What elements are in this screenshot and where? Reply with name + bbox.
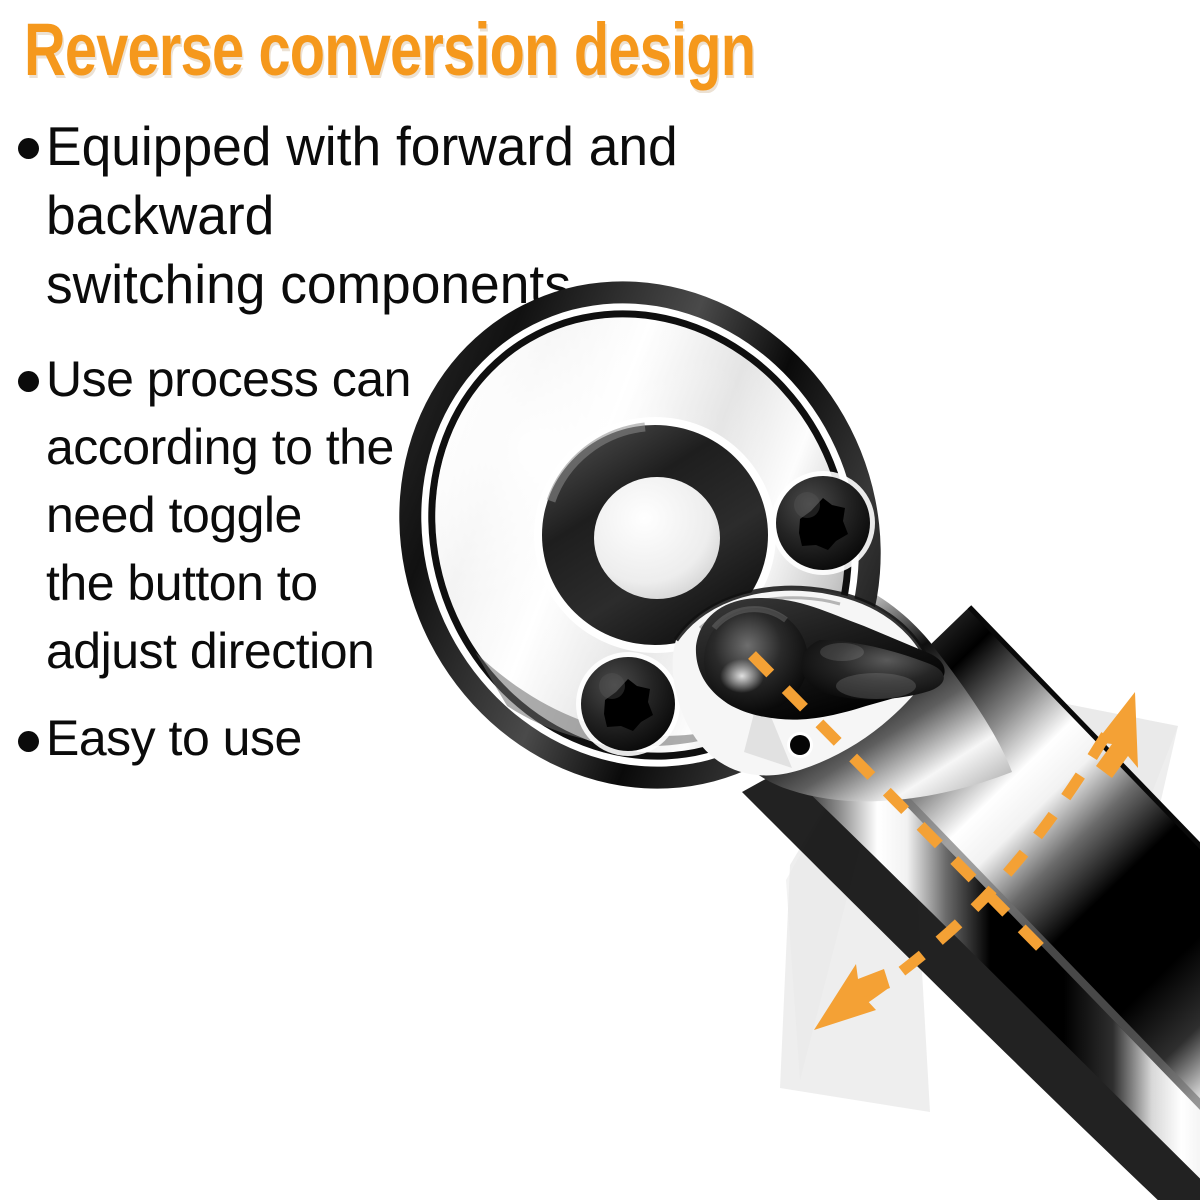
bullet-dot-icon xyxy=(18,371,39,392)
arrow-lower-left-icon xyxy=(814,964,890,1030)
feature-text: Easy to use xyxy=(46,707,940,769)
feature-list: Equipped with forward and backward switc… xyxy=(0,112,940,769)
arrow-upper-right-icon xyxy=(1096,692,1138,778)
feature-text: Use process can according to the need to… xyxy=(46,345,940,685)
list-item: Equipped with forward and backward switc… xyxy=(0,112,940,319)
dashed-arc xyxy=(842,735,1106,1014)
infographic-page: Reverse conversion design Equipped with … xyxy=(0,0,1200,1200)
bullet-dot-icon xyxy=(18,731,39,752)
list-item: Easy to use xyxy=(0,707,940,769)
bullet-dot-icon xyxy=(18,138,39,159)
list-item: Use process can according to the need to… xyxy=(0,345,940,685)
feature-text: Equipped with forward and backward switc… xyxy=(46,112,913,319)
page-title: Reverse conversion design xyxy=(24,10,812,90)
swing-fan-upper xyxy=(905,672,1178,905)
